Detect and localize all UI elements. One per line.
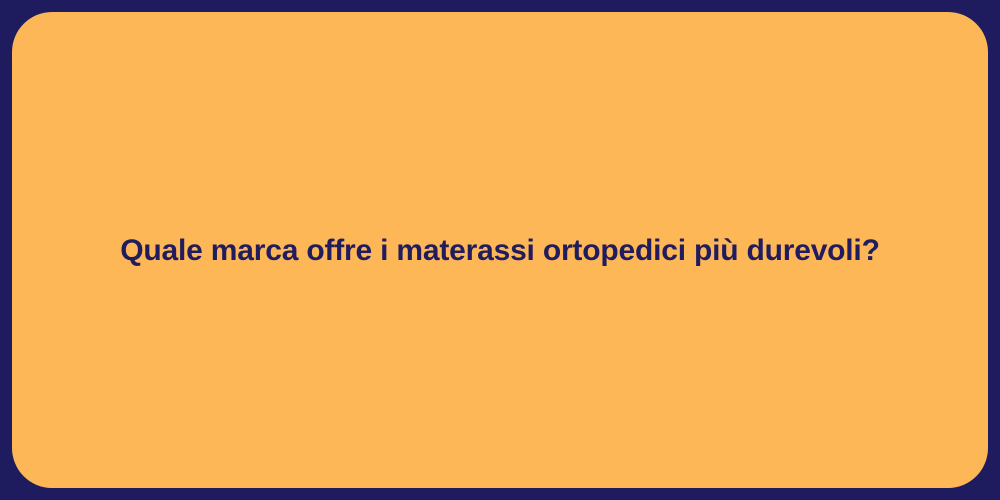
question-card: Quale marca offre i materassi ortopedici…	[12, 12, 988, 488]
page-background: Quale marca offre i materassi ortopedici…	[0, 0, 1000, 500]
question-headline: Quale marca offre i materassi ortopedici…	[120, 231, 879, 270]
